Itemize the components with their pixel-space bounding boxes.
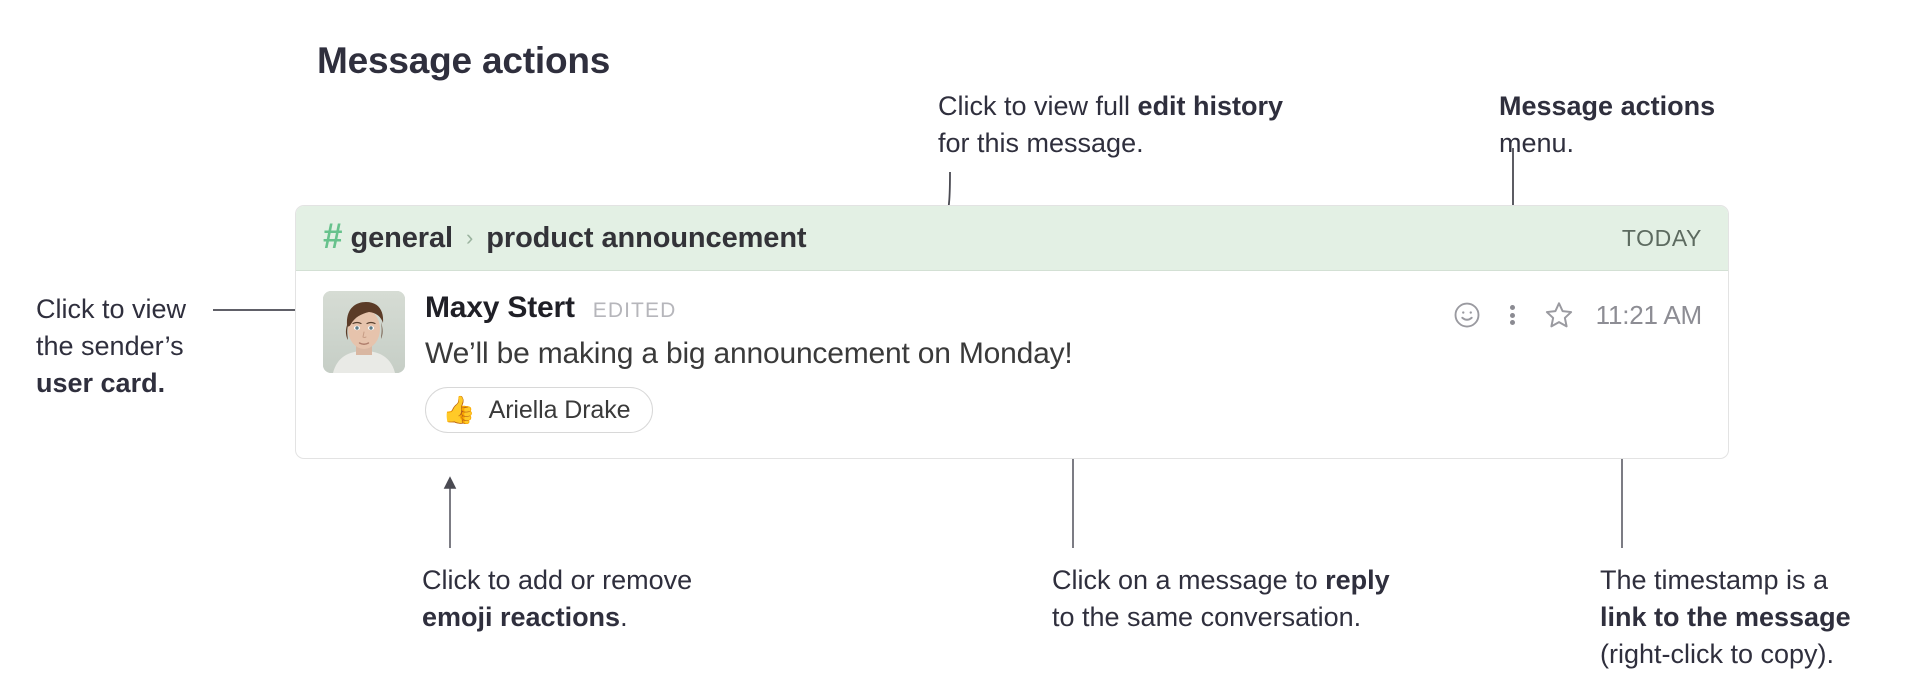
annotation-reply-emphasis: reply [1325, 565, 1390, 595]
annotation-edit-history-line1: Click to view full [938, 91, 1138, 121]
annotation-reply-line2: to the same conversation. [1052, 599, 1390, 636]
hash-icon: # [323, 219, 342, 254]
vertical-dots-glyph [1510, 303, 1515, 328]
annotation-user-card-emphasis: user card. [36, 368, 165, 398]
annotation-actions-menu-emphasis: Message actions [1499, 91, 1715, 121]
annotation-emoji-emphasis: emoji reactions [422, 602, 620, 632]
reaction-label: Ariella Drake [489, 396, 631, 425]
avatar[interactable] [323, 291, 405, 373]
annotation-emoji-period: . [620, 602, 628, 632]
annotation-reply: Click on a message to reply to the same … [1052, 562, 1390, 636]
page-title: Message actions [317, 40, 610, 82]
thumbs-up-icon: 👍 [442, 397, 476, 424]
edited-label[interactable]: EDITED [593, 299, 677, 323]
smiley-face-icon [1452, 300, 1482, 330]
annotation-user-card-line2: the sender’s [36, 328, 186, 365]
sender-name[interactable]: Maxy Stert [425, 291, 575, 325]
annotation-timestamp-emphasis: link to the message [1600, 602, 1851, 632]
annotation-actions-menu: Message actions menu. [1499, 88, 1715, 162]
annotation-edit-history-line2: for this message. [938, 125, 1283, 162]
avatar-photo [323, 291, 405, 373]
annotation-timestamp-line1: The timestamp is a [1600, 562, 1851, 599]
message-card: # general › product announcement TODAY [295, 205, 1729, 459]
message-recipient-bar[interactable]: # general › product announcement TODAY [296, 206, 1728, 271]
add-reaction-icon[interactable] [1450, 298, 1484, 332]
star-outline-glyph [1543, 299, 1575, 331]
chevron-right-icon: › [466, 225, 473, 251]
message-controls: 11:21 AM [1450, 295, 1702, 335]
message-timestamp-link[interactable]: 11:21 AM [1596, 300, 1702, 331]
topic-name-link[interactable]: product announcement [486, 222, 806, 255]
stream-name-link[interactable]: general [350, 222, 452, 255]
annotation-edit-history: Click to view full edit history for this… [938, 88, 1283, 162]
message-actions-menu-icon[interactable] [1502, 298, 1524, 332]
reaction-pill[interactable]: 👍 Ariella Drake [425, 387, 653, 433]
date-label[interactable]: TODAY [1622, 225, 1702, 252]
annotation-emoji-reactions: Click to add or remove emoji reactions. [422, 562, 692, 636]
annotation-actions-menu-line2: menu. [1499, 125, 1715, 162]
annotation-user-card: Click to view the sender’s user card. [36, 291, 186, 402]
annotation-edit-history-emphasis: edit history [1138, 91, 1284, 121]
star-icon[interactable] [1542, 298, 1576, 332]
annotation-timestamp-link: The timestamp is a link to the message (… [1600, 562, 1851, 673]
annotation-emoji-line1: Click to add or remove [422, 562, 692, 599]
message-row[interactable]: Maxy Stert EDITED We’ll be making a big … [296, 271, 1728, 433]
annotation-reply-line1: Click on a message to [1052, 565, 1325, 595]
annotation-timestamp-line3: (right-click to copy). [1600, 636, 1851, 673]
message-content[interactable]: We’ll be making a big announcement on Mo… [425, 337, 1702, 371]
reactions-row: 👍 Ariella Drake [425, 387, 1702, 433]
annotation-user-card-line1: Click to view [36, 291, 186, 328]
